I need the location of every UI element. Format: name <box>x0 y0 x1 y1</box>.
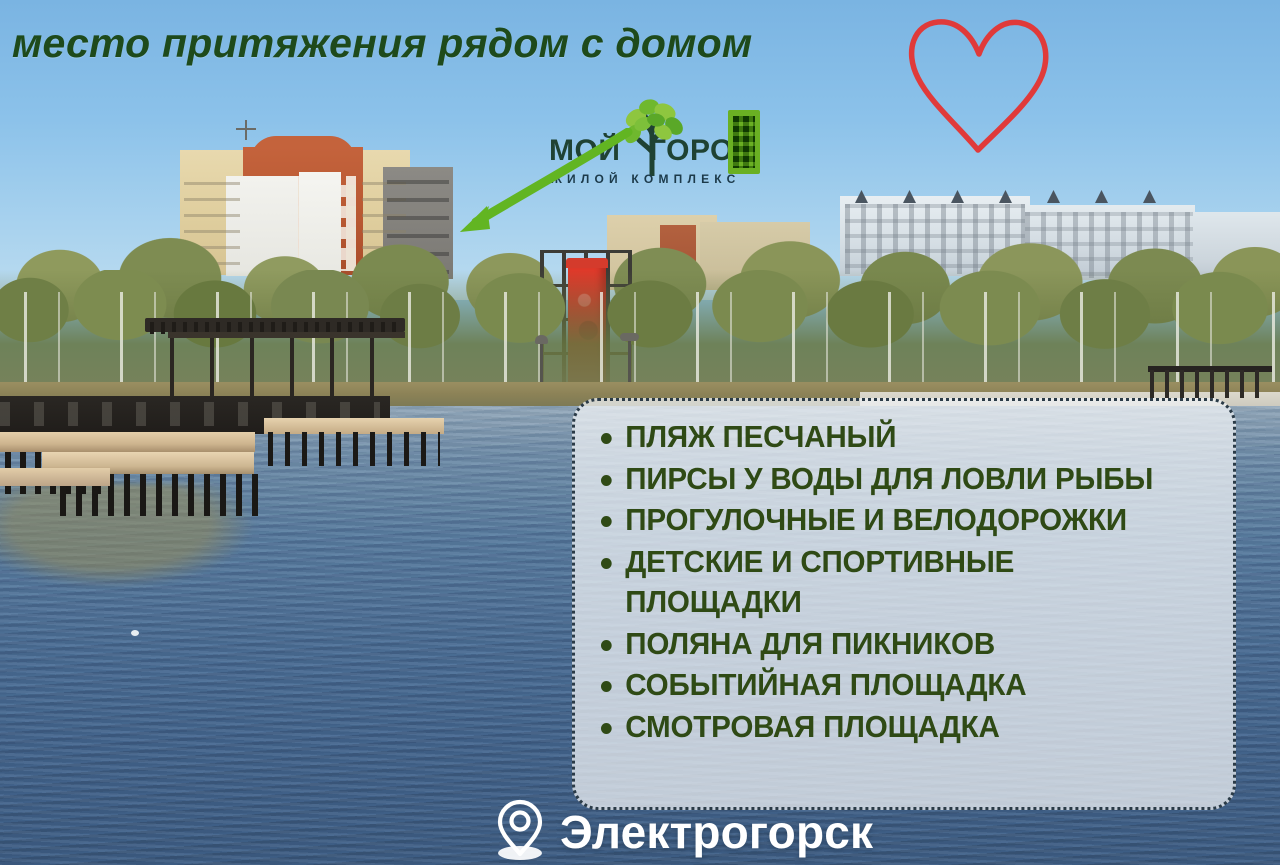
pier-wood-deck <box>0 432 255 452</box>
pier-secondary-pilings <box>268 432 440 466</box>
list-item-label: ПЛЯЖ ПЕСЧАНЫЙ <box>625 417 896 458</box>
green-arrow-icon <box>440 128 640 238</box>
list-item-label: ПРОГУЛОЧНЫЕ И ВЕЛОДОРОЖКИ <box>625 500 1127 541</box>
list-item-label: ПИРСЫ У ВОДЫ ДЛЯ ЛОВЛИ РЫБЫ <box>625 459 1153 500</box>
map-pin-icon <box>492 796 548 865</box>
list-item-label: СМОТРОВАЯ ПЛОЩАДКА <box>625 707 999 748</box>
pavilion-posts <box>170 338 402 400</box>
bullet-icon <box>601 558 612 569</box>
list-item: ПОЛЯНА ДЛЯ ПИКНИКОВ <box>601 624 1197 665</box>
pier-wood-deck-3 <box>0 468 110 486</box>
roof-antenna <box>245 120 247 140</box>
location-label: Электрогорск <box>560 805 873 859</box>
roof-antenna-cross <box>236 128 256 130</box>
bullet-icon <box>601 433 612 444</box>
list-item-label: СОБЫТИЙНАЯ ПЛОЩАДКА <box>625 665 1026 706</box>
list-item: СМОТРОВАЯ ПЛОЩАДКА <box>601 707 1197 748</box>
observation-tower-top <box>566 258 608 268</box>
park-lamp-post-2 <box>628 340 631 388</box>
list-item: ПРОГУЛОЧНЫЕ И ВЕЛОДОРОЖКИ <box>601 500 1197 541</box>
list-item: ПИРСЫ У ВОДЫ ДЛЯ ЛОВЛИ РЫБЫ <box>601 459 1197 500</box>
water-debris <box>131 630 139 636</box>
building-icon <box>728 110 760 174</box>
far-pier <box>1150 370 1270 398</box>
bullet-icon <box>601 475 612 486</box>
features-panel: ПЛЯЖ ПЕСЧАНЫЙ ПИРСЫ У ВОДЫ ДЛЯ ЛОВЛИ РЫБ… <box>572 398 1236 810</box>
list-item-label: ДЕТСКИЕ И СПОРТИВНЫЕ ПЛОЩАДКИ <box>625 542 1014 623</box>
headline-text: место притяжения рядом с домом <box>12 20 752 67</box>
list-item: ПЛЯЖ ПЕСЧАНЫЙ <box>601 417 1197 458</box>
promo-banner: место притяжения рядом с домом МОЙ ГОРОД <box>0 0 1280 865</box>
bullet-icon <box>601 516 612 527</box>
heart-icon <box>900 10 1060 155</box>
building-icon-windows <box>733 116 755 168</box>
location-badge: Электрогорск <box>492 796 873 865</box>
roof-gables <box>845 190 1195 204</box>
features-list: ПЛЯЖ ПЕСЧАНЫЙ ПИРСЫ У ВОДЫ ДЛЯ ЛОВЛИ РЫБ… <box>601 417 1215 748</box>
list-item: ДЕТСКИЕ И СПОРТИВНЫЕ ПЛОЩАДКИ <box>601 542 1197 623</box>
bullet-icon <box>601 681 612 692</box>
bullet-icon <box>601 640 612 651</box>
list-item-label: ПОЛЯНА ДЛЯ ПИКНИКОВ <box>625 624 995 665</box>
list-item: СОБЫТИЙНАЯ ПЛОЩАДКА <box>601 665 1197 706</box>
bullet-icon <box>601 723 612 734</box>
